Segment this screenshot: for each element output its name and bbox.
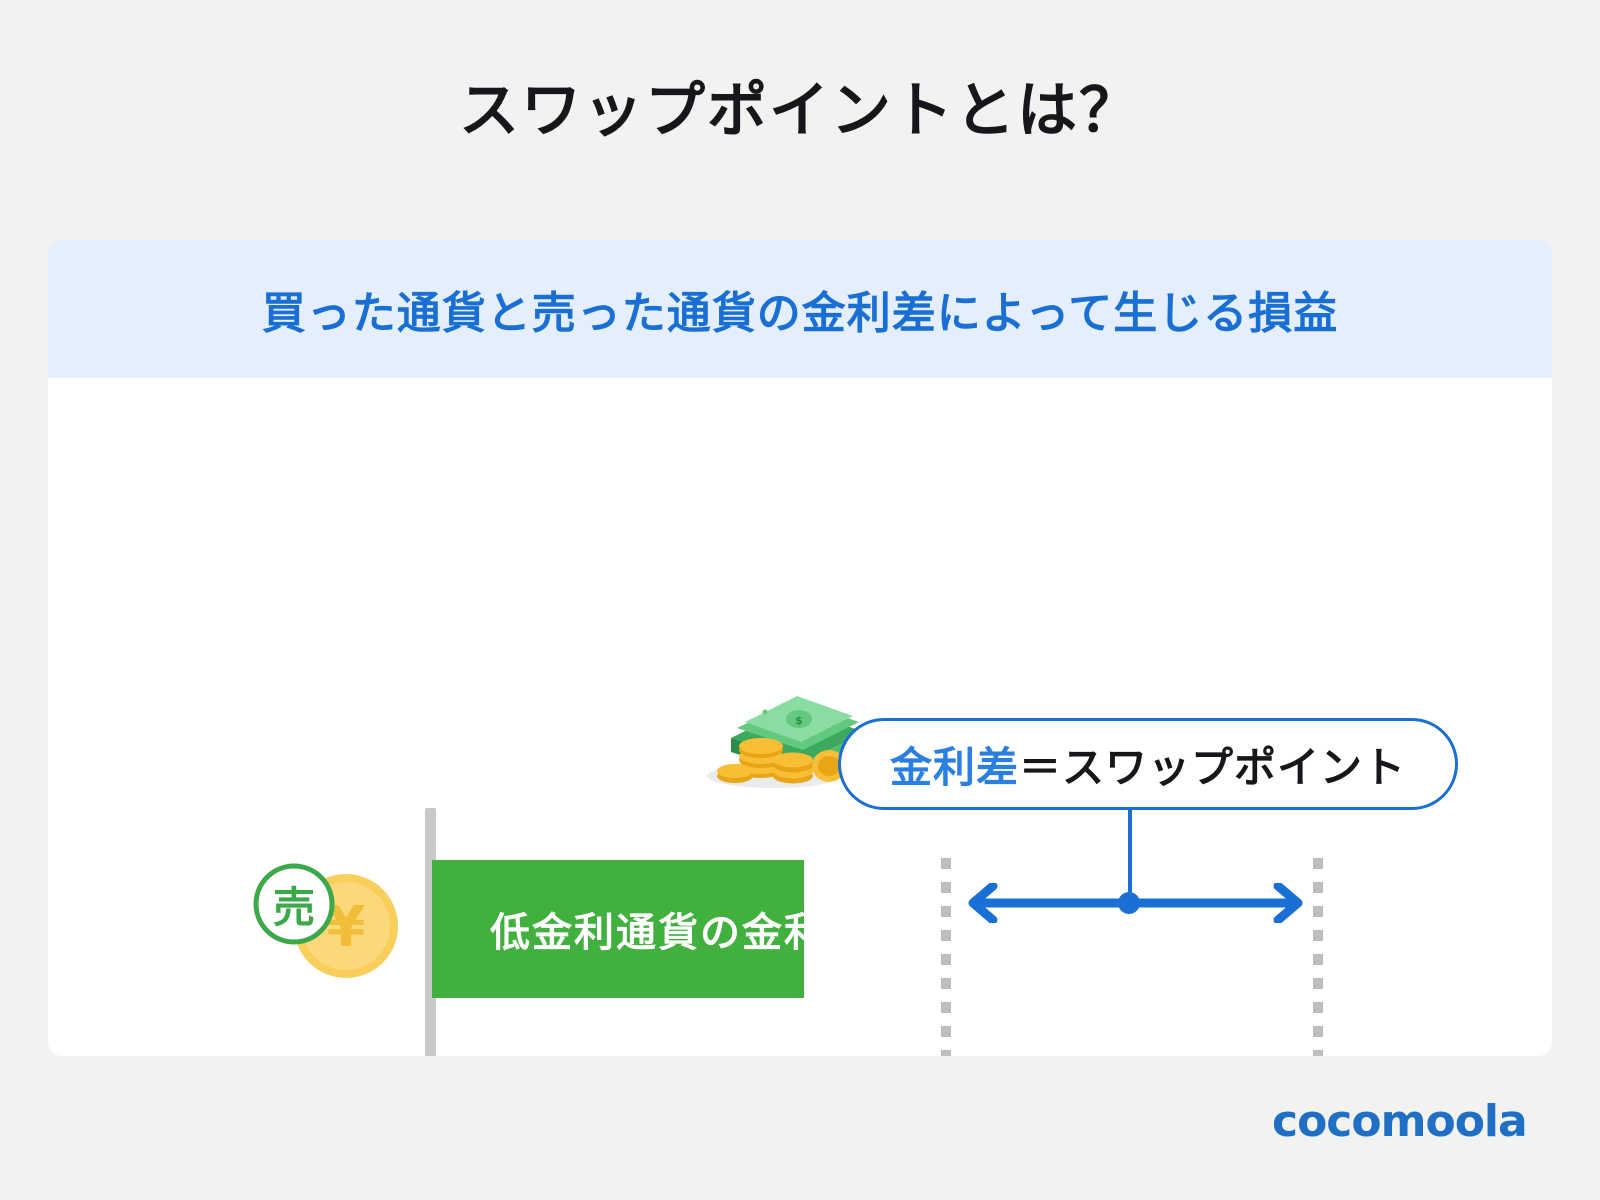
cocomoola-logo: cocomoola [1272, 1096, 1527, 1147]
legend-sell-badge-char: 売 [273, 883, 315, 932]
page-title: スワップポイントとは？ [0, 78, 1600, 144]
legend-sell-low-interest: ¥ 売 [248, 856, 408, 986]
bar-low-interest-currency: 低金利通貨の金利 [432, 860, 804, 998]
guide-line-low-interest-end [941, 858, 951, 1056]
legend-buy-high-interest: $ 買 [248, 1050, 408, 1056]
callout-highlight: 金利差 [890, 744, 1019, 791]
gap-double-arrow-icon [953, 898, 1318, 908]
bar-label-low-interest: 低金利通貨の金利 [490, 900, 826, 958]
callout-rest: ＝スワップポイント [1019, 744, 1406, 791]
card-header-title: 買った通貨と売った通貨の金利差によって生じる損益 [262, 277, 1338, 341]
bar-diagram: $ [48, 378, 1552, 1056]
svg-text:$: $ [795, 714, 803, 727]
callout-text: 金利差＝スワップポイント [890, 734, 1406, 795]
callout-gap-equals-swap-point: 金利差＝スワップポイント [838, 718, 1458, 810]
card-header-band: 買った通貨と売った通貨の金利差によって生じる損益 [48, 240, 1552, 378]
info-card: 買った通貨と売った通貨の金利差によって生じる損益 $ [48, 240, 1552, 1056]
